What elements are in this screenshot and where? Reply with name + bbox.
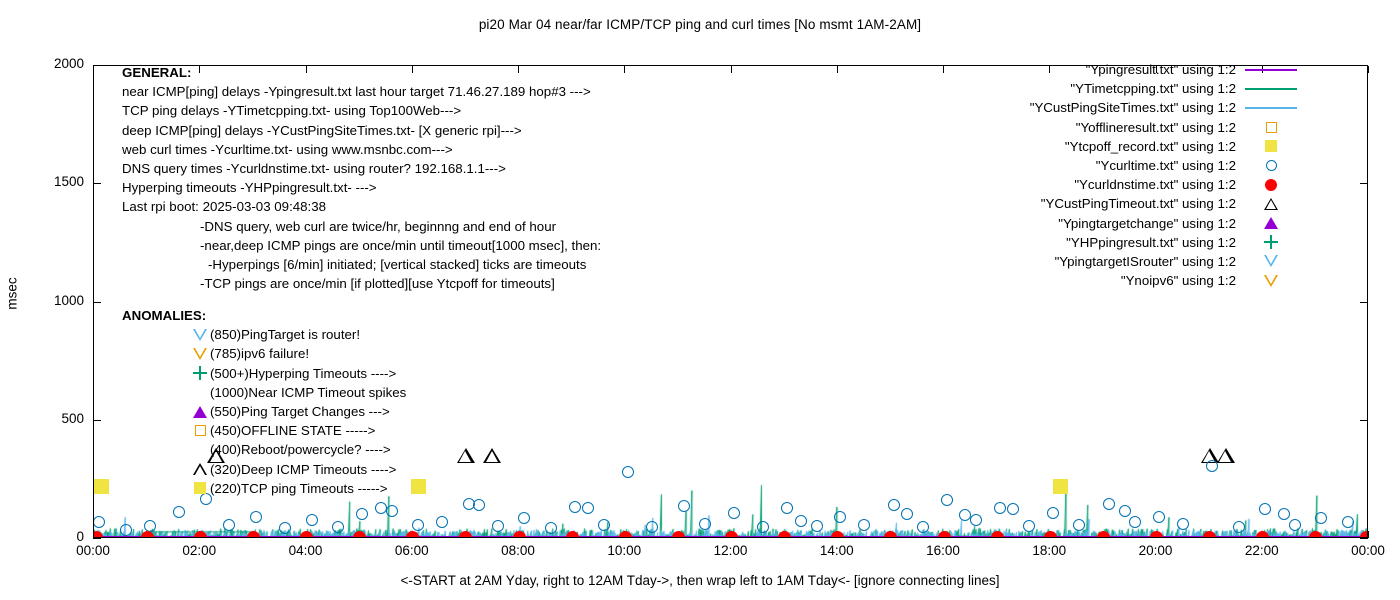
legend-entry-9: "YHPpingresult.txt" using 1:2	[1012, 233, 1302, 252]
general-line-3: web curl times -Ycurltime.txt- using www…	[122, 140, 601, 159]
square-filled-icon	[1265, 140, 1277, 152]
legend-entry-6: "Ycurldnstime.txt" using 1:2	[1012, 175, 1302, 194]
general-line-1: TCP ping delays -YTimetcpping.txt- using…	[122, 101, 601, 120]
legend-entry-3: "Yofflineresult.txt" using 1:2	[1012, 118, 1302, 137]
y-tick-mark-0	[93, 538, 101, 539]
chart-title: pi20 Mar 04 near/far ICMP/TCP ping and c…	[0, 17, 1400, 32]
square-open-icon	[195, 425, 206, 436]
down-triangle-blue-icon	[190, 327, 210, 343]
x-tick-label-6: 12:00	[691, 543, 771, 558]
anomaly-label-1: (785)ipv6 failure!	[210, 344, 309, 363]
down-triangle-blue-icon	[1264, 255, 1278, 267]
x-axis-label: <-START at 2AM Yday, right to 12AM Tday-…	[0, 573, 1400, 588]
legend-label-7: "YCustPingTimeout.txt" using 1:2	[1041, 194, 1236, 213]
legend-entry-5: "Ycurltime.txt" using 1:2	[1012, 156, 1302, 175]
down-triangle-blue-icon	[193, 329, 207, 341]
legend-entry-7: "YCustPingTimeout.txt" using 1:2	[1012, 194, 1302, 213]
legend-key-6	[1240, 175, 1302, 194]
anomaly-item-8: (220)TCP ping Timeouts ----->	[122, 479, 406, 498]
general-note-3: -TCP pings are once/min [if plotted][use…	[122, 274, 601, 293]
plus-icon	[1264, 235, 1278, 249]
triangle-filled-purple-icon	[190, 404, 210, 420]
general-notes: -DNS query, web curl are twice/hr, begin…	[122, 217, 601, 294]
general-line-2: deep ICMP[ping] delays -YCustPingSiteTim…	[122, 121, 601, 140]
general-note-2: -Hyperpings [6/min] initiated; [vertical…	[122, 255, 601, 274]
anomaly-item-1: (785)ipv6 failure!	[122, 344, 406, 363]
legend-label-2: "YCustPingSiteTimes.txt" using 1:2	[1030, 98, 1236, 117]
x-tick-label-12: 00:00	[1328, 543, 1400, 558]
legend-key-0	[1240, 60, 1302, 79]
y-tick-label-0: 0	[14, 529, 84, 544]
anomalies-list: (850)PingTarget is router!(785)ipv6 fail…	[122, 325, 406, 498]
anomaly-label-4: (550)Ping Target Changes --->	[210, 402, 390, 421]
general-note-0: -DNS query, web curl are twice/hr, begin…	[122, 217, 601, 236]
legend-entry-2: "YCustPingSiteTimes.txt" using 1:2	[1012, 98, 1302, 117]
x-tick-label-4: 08:00	[478, 543, 558, 558]
chart-legend: "Ypingresult.txt" using 1:2"YTimetcpping…	[1012, 60, 1302, 290]
circle-filled-icon	[1265, 179, 1277, 191]
legend-label-8: "Ypingtargetchange" using 1:2	[1058, 214, 1236, 233]
legend-label-1: "YTimetcpping.txt" using 1:2	[1070, 79, 1236, 98]
triangle-open-black-icon	[190, 461, 210, 477]
general-line-5: Hyperping timeouts -YHPpingresult.txt- -…	[122, 178, 601, 197]
anomaly-label-3: (1000)Near ICMP Timeout spikes	[210, 383, 406, 402]
x-tick-label-3: 06:00	[372, 543, 452, 558]
plus-icon	[193, 366, 207, 380]
blank-icon	[190, 384, 210, 400]
chart-page: pi20 Mar 04 near/far ICMP/TCP ping and c…	[0, 0, 1400, 600]
x-tick-mark-top-12	[1368, 66, 1369, 73]
x-tick-label-11: 22:00	[1222, 543, 1302, 558]
legend-label-11: "Ynoipv6" using 1:2	[1121, 271, 1236, 290]
general-header: GENERAL:	[122, 63, 601, 82]
legend-key-2	[1240, 98, 1302, 117]
circle-open-icon	[1266, 160, 1277, 171]
triangle-open-icon	[193, 463, 207, 475]
legend-label-5: "Ycurltime.txt" using 1:2	[1096, 156, 1236, 175]
anomaly-item-5: (450)OFFLINE STATE ----->	[122, 421, 406, 440]
legend-key-9	[1240, 233, 1302, 252]
y-tick-label-1000: 1000	[14, 293, 84, 308]
square-open-orange-icon	[190, 423, 210, 439]
anomalies-header: ANOMALIES:	[122, 306, 406, 325]
anomaly-item-4: (550)Ping Target Changes --->	[122, 402, 406, 421]
anomaly-label-7: (320)Deep ICMP Timeouts ---->	[210, 460, 396, 479]
x-tick-mark-12	[1368, 531, 1369, 538]
legend-entry-1: "YTimetcpping.txt" using 1:2	[1012, 79, 1302, 98]
down-triangle-orange-icon	[1264, 275, 1278, 287]
legend-label-6: "Ycurldnstime.txt" using 1:2	[1074, 175, 1236, 194]
x-tick-label-5: 10:00	[584, 543, 664, 558]
x-tick-label-0: 00:00	[53, 543, 133, 558]
legend-key-1	[1240, 79, 1302, 98]
general-line-6: Last rpi boot: 2025-03-03 09:48:38	[122, 197, 601, 216]
legend-key-3	[1240, 118, 1302, 137]
down-triangle-orange-icon	[190, 346, 210, 362]
legend-key-5	[1240, 156, 1302, 175]
legend-label-9: "YHPpingresult.txt" using 1:2	[1066, 233, 1236, 252]
square-filled-yellow-icon	[190, 480, 210, 496]
legend-label-3: "Yofflineresult.txt" using 1:2	[1076, 118, 1236, 137]
y-tick-mark-right-0	[1360, 538, 1368, 539]
anomaly-item-0: (850)PingTarget is router!	[122, 325, 406, 344]
x-tick-label-9: 18:00	[1009, 543, 1089, 558]
legend-label-0: "Ypingresult.txt" using 1:2	[1086, 60, 1236, 79]
general-line-4: DNS query times -Ycurldnstime.txt- using…	[122, 159, 601, 178]
general-lines: near ICMP[ping] delays -Ypingresult.txt …	[122, 82, 601, 216]
anomaly-item-3: (1000)Near ICMP Timeout spikes	[122, 383, 406, 402]
plus-teal-icon	[190, 365, 210, 381]
y-tick-label-1500: 1500	[14, 174, 84, 189]
square-open-icon	[1266, 122, 1277, 133]
y-tick-label-2000: 2000	[14, 56, 84, 71]
legend-label-10: "YpingtargetISrouter" using 1:2	[1055, 252, 1236, 271]
anomaly-item-2: (500+)Hyperping Timeouts ---->	[122, 364, 406, 383]
legend-entry-4: "Ytcpoff_record.txt" using 1:2	[1012, 137, 1302, 156]
anomaly-label-2: (500+)Hyperping Timeouts ---->	[210, 364, 396, 383]
x-tick-label-2: 04:00	[266, 543, 346, 558]
legend-entry-10: "YpingtargetISrouter" using 1:2	[1012, 252, 1302, 271]
general-line-0: near ICMP[ping] delays -Ypingresult.txt …	[122, 82, 601, 101]
legend-key-7	[1240, 194, 1302, 213]
anomalies-annotation-block: ANOMALIES: (850)PingTarget is router!(78…	[122, 306, 406, 498]
legend-key-10	[1240, 252, 1302, 271]
legend-key-4	[1240, 137, 1302, 156]
anomaly-label-8: (220)TCP ping Timeouts ----->	[210, 479, 387, 498]
legend-entry-0: "Ypingresult.txt" using 1:2	[1012, 60, 1302, 79]
legend-line-swatch-0	[1245, 69, 1297, 71]
anomaly-label-6: (400)Reboot/powercycle? ---->	[210, 440, 391, 459]
legend-line-swatch-2	[1245, 107, 1297, 109]
legend-label-4: "Ytcpoff_record.txt" using 1:2	[1065, 137, 1236, 156]
legend-key-11	[1240, 271, 1302, 290]
anomaly-item-6: (400)Reboot/powercycle? ---->	[122, 440, 406, 459]
blank-icon	[190, 442, 210, 458]
triangle-open-icon	[1264, 198, 1278, 210]
square-filled-icon	[194, 482, 206, 494]
triangle-filled-icon	[1264, 217, 1278, 229]
triangle-filled-icon	[193, 406, 207, 418]
anomaly-label-0: (850)PingTarget is router!	[210, 325, 360, 344]
legend-key-8	[1240, 214, 1302, 233]
legend-entry-11: "Ynoipv6" using 1:2	[1012, 271, 1302, 290]
general-note-1: -near,deep ICMP pings are once/min until…	[122, 236, 601, 255]
down-triangle-orange-icon	[193, 348, 207, 360]
legend-line-swatch-1	[1245, 88, 1297, 90]
general-annotation-block: GENERAL: near ICMP[ping] delays -Ypingre…	[122, 63, 601, 293]
y-tick-label-500: 500	[14, 411, 84, 426]
x-tick-label-10: 20:00	[1116, 543, 1196, 558]
anomaly-label-5: (450)OFFLINE STATE ----->	[210, 421, 375, 440]
x-tick-label-7: 14:00	[797, 543, 877, 558]
x-tick-label-8: 16:00	[903, 543, 983, 558]
anomaly-item-7: (320)Deep ICMP Timeouts ---->	[122, 460, 406, 479]
legend-entry-8: "Ypingtargetchange" using 1:2	[1012, 214, 1302, 233]
x-tick-label-1: 02:00	[159, 543, 239, 558]
